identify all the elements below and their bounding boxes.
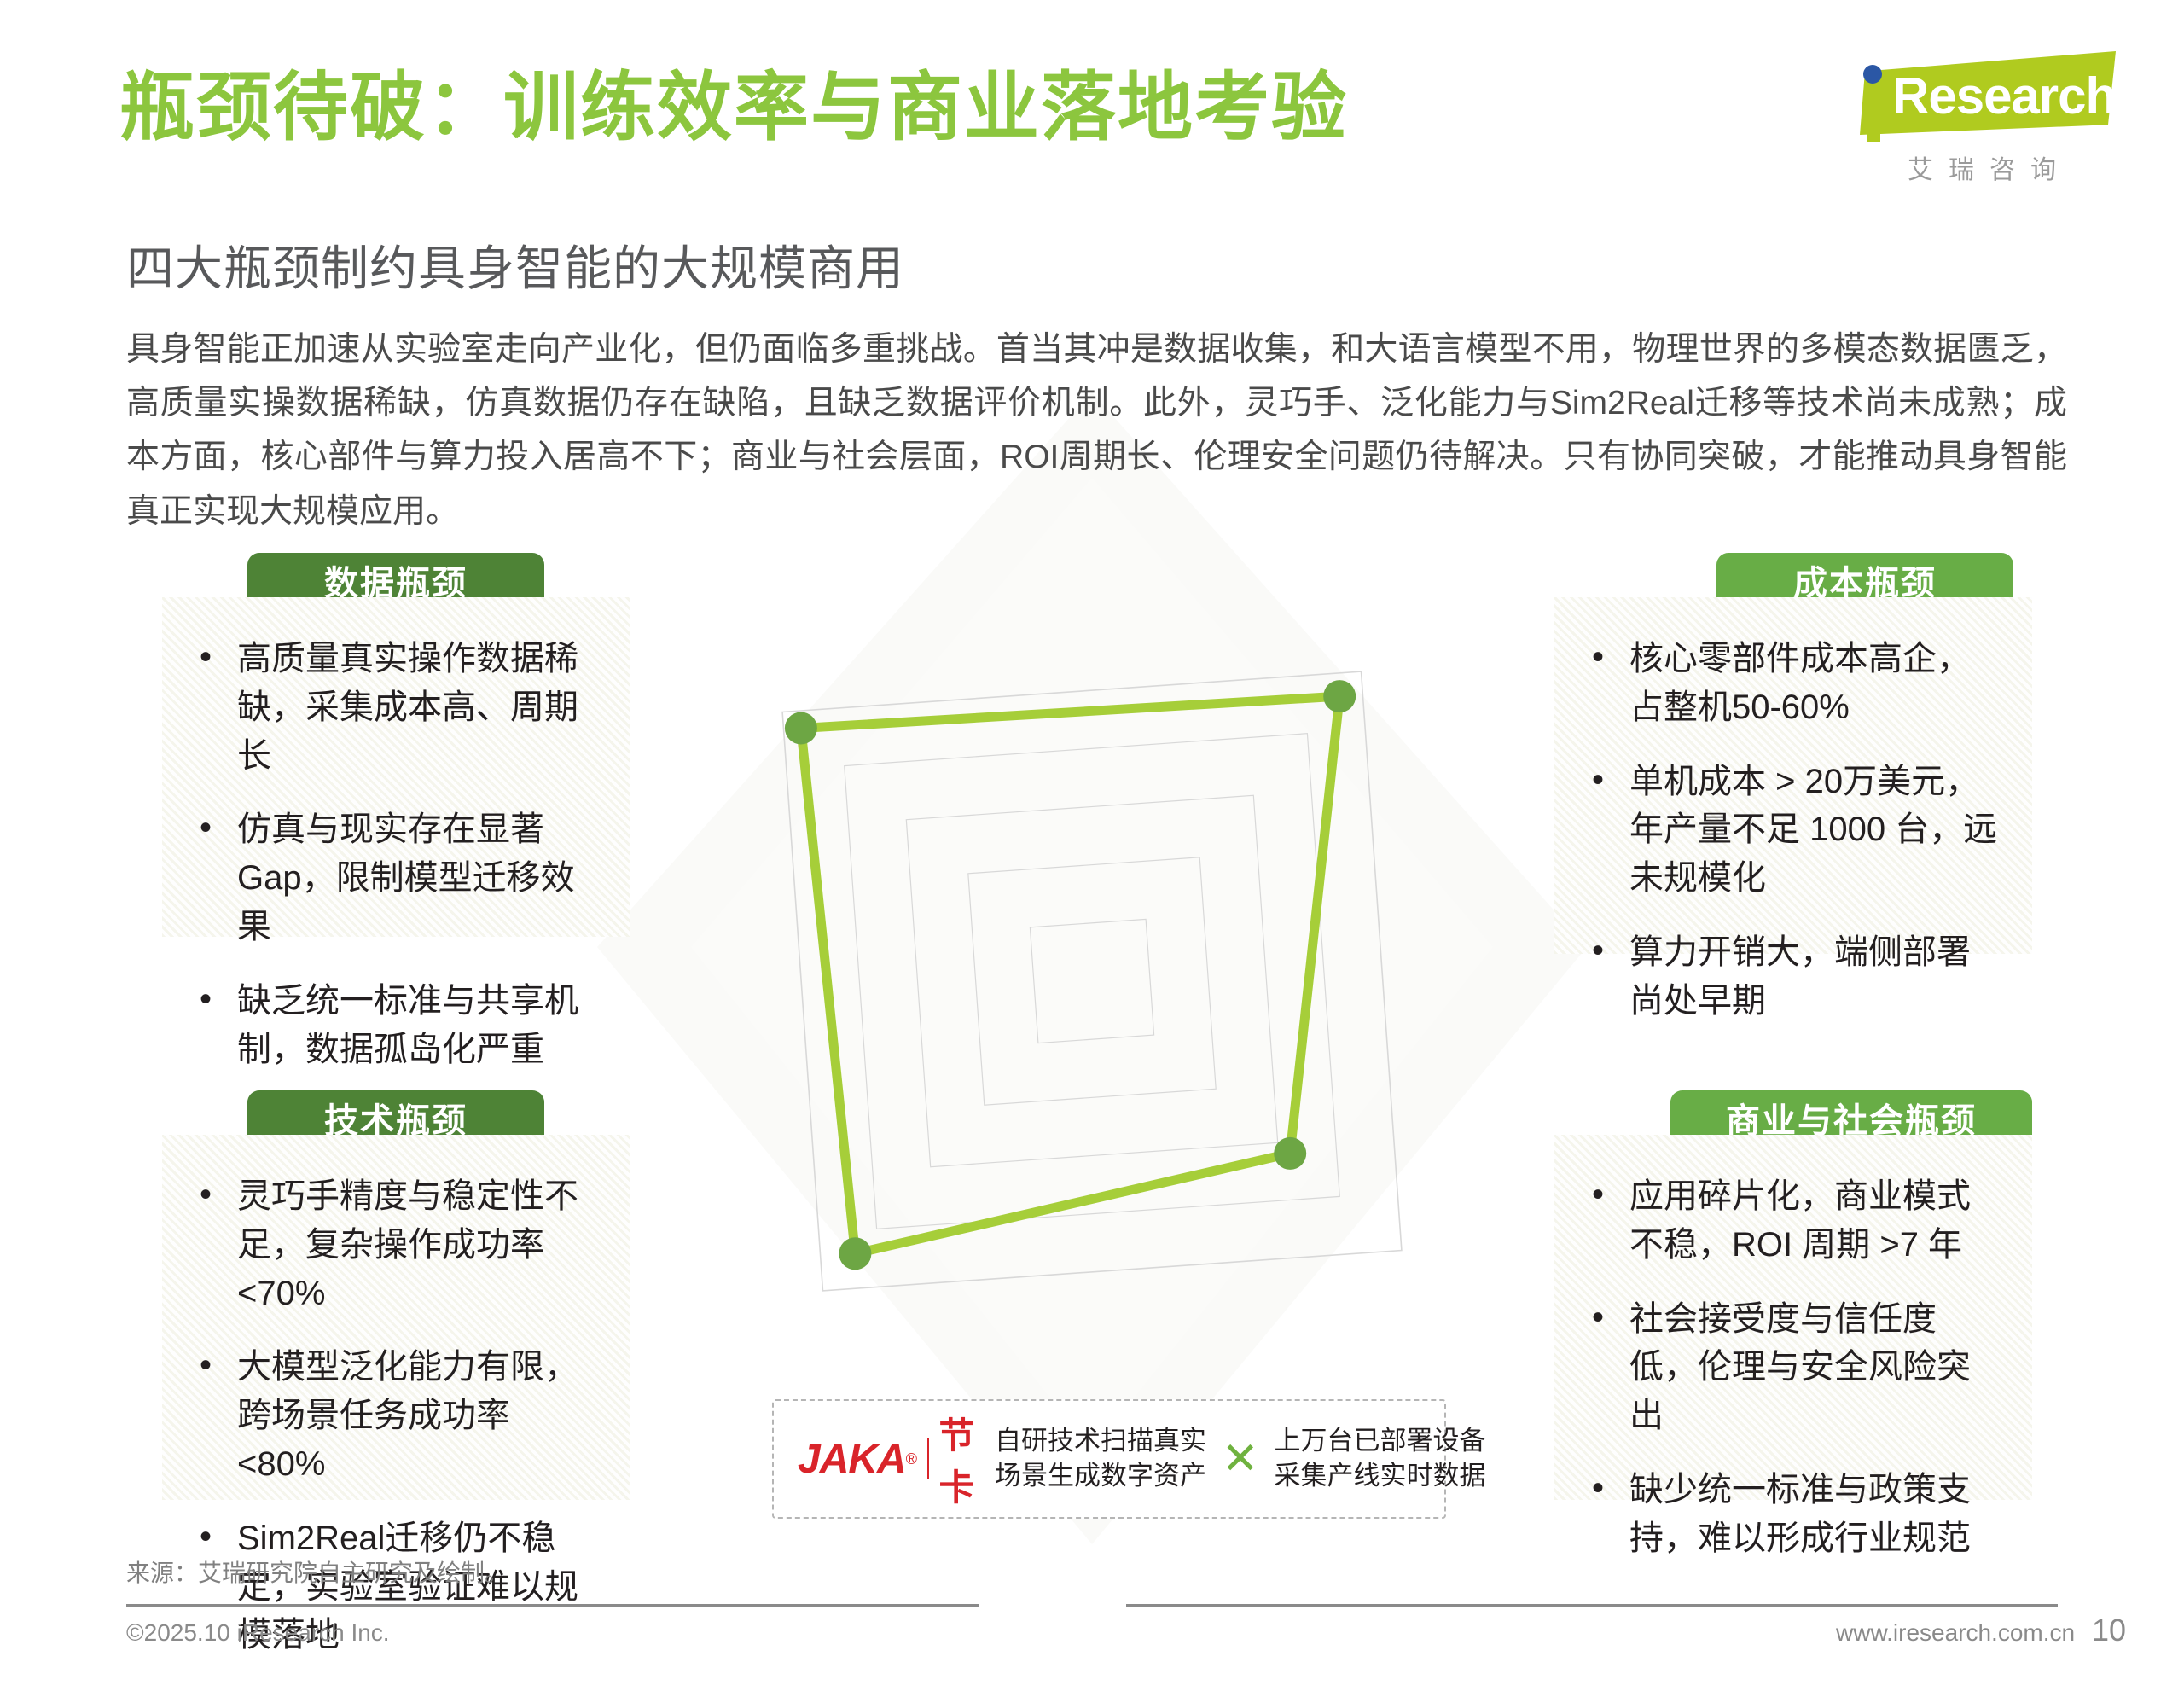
jaka-chinese-name: 节卡 xyxy=(939,1407,976,1511)
list-item: 灵巧手精度与稳定性不足，复杂操作成功率 <70% xyxy=(191,1172,595,1317)
jaka-partner-callout: JAKA ® 节卡 自研技术扫描真实 场景生成数字资产 ✕ 上万台已部署设备 采… xyxy=(772,1399,1446,1519)
intro-paragraph: 具身智能正加速从实验室走向产业化，但仍面临多重挑战。首当其冲是数据收集，和大语言… xyxy=(126,323,2067,538)
bullet-list-data: 高质量真实操作数据稀缺，采集成本高、周期长 仿真与现实存在显著 Gap，限制模型… xyxy=(162,597,630,1111)
radar-chart xyxy=(708,597,1476,1365)
list-item: 缺少统一标准与政策支持，难以形成行业规范 xyxy=(1583,1466,1998,1563)
list-item: 大模型泛化能力有限，跨场景任务成功率 <80% xyxy=(191,1343,595,1488)
jaka-right-text: 上万台已部署设备 采集产线实时数据 xyxy=(1275,1424,1486,1494)
radar-ring-3 xyxy=(906,795,1277,1166)
jaka-left-line1: 自研技术扫描真实 xyxy=(995,1424,1206,1459)
jaka-left-line2: 场景生成数字资产 xyxy=(995,1459,1206,1494)
footer-page-number: 10 xyxy=(2092,1613,2126,1648)
page-header: 瓶颈待破：训练效率与商业落地考验 Research 艾瑞咨询 xyxy=(0,0,2184,222)
bullet-list-biz: 应用碎片化，商业模式不稳，ROI 周期 >7 年 社会接受度与信任度低，伦理与安… xyxy=(1554,1135,2032,1601)
list-item: 高质量真实操作数据稀缺，采集成本高、周期长 xyxy=(191,635,595,780)
footer-divider-left xyxy=(126,1604,979,1607)
page-title: 瓶颈待破：训练效率与商业落地考验 xyxy=(119,67,1348,149)
radar-point-成本瓶颈 xyxy=(1323,680,1356,712)
list-item: 缺乏统一标准与共享机制，数据孤岛化严重 xyxy=(191,977,595,1074)
logo-i-dot-icon xyxy=(1863,65,1882,84)
iresearch-logo: Research 艾瑞咨询 xyxy=(1844,44,2126,198)
radar-ring-1 xyxy=(1030,919,1153,1043)
cross-multiply-icon: ✕ xyxy=(1222,1437,1259,1481)
jaka-right-line1: 上万台已部署设备 xyxy=(1275,1424,1486,1459)
quadrant-data-bottleneck: 数据瓶颈 高质量真实操作数据稀缺，采集成本高、周期长 仿真与现实存在显著 Gap… xyxy=(162,553,630,937)
source-note: 来源：艾瑞研究院自主研究及绘制。 xyxy=(126,1555,508,1589)
jaka-wordmark: JAKA xyxy=(798,1436,906,1483)
radar-data-points xyxy=(785,680,1356,1270)
logo-chinese-name: 艾瑞咨询 xyxy=(1862,148,2117,186)
list-item: 仿真与现实存在显著 Gap，限制模型迁移效果 xyxy=(191,805,595,950)
quadrant-tech-bottleneck: 技术瓶颈 灵巧手精度与稳定性不足，复杂操作成功率 <70% 大模型泛化能力有限，… xyxy=(162,1090,630,1500)
card-business-social-bottleneck: 应用碎片化，商业模式不稳，ROI 周期 >7 年 社会接受度与信任度低，伦理与安… xyxy=(1554,1135,2032,1500)
footer-copyright: ©2025.10 iResearch Inc. xyxy=(126,1619,390,1647)
list-item: 算力开销大，端侧部署尚处早期 xyxy=(1583,928,1998,1026)
jaka-divider xyxy=(927,1438,929,1479)
jaka-right-line2: 采集产线实时数据 xyxy=(1275,1459,1486,1494)
quadrant-cost-bottleneck: 成本瓶颈 核心零部件成本高企，占整机50-60% 单机成本 > 20万美元，年产… xyxy=(1554,553,2032,954)
jaka-left-text: 自研技术扫描真实 场景生成数字资产 xyxy=(995,1424,1206,1494)
quadrant-business-social-bottleneck: 商业与社会瓶颈 应用碎片化，商业模式不稳，ROI 周期 >7 年 社会接受度与信… xyxy=(1554,1090,2032,1500)
logo-wordmark: Research xyxy=(1892,67,2116,125)
card-cost-bottleneck: 核心零部件成本高企，占整机50-60% 单机成本 > 20万美元，年产量不足 1… xyxy=(1554,597,2032,954)
list-item: 核心零部件成本高企，占整机50-60% xyxy=(1583,635,1998,732)
list-item: 单机成本 > 20万美元，年产量不足 1000 台，远未规模化 xyxy=(1583,758,1998,903)
logo-i-stem-icon xyxy=(1867,89,1880,142)
footer-divider-right xyxy=(1126,1604,2058,1607)
card-tech-bottleneck: 灵巧手精度与稳定性不足，复杂操作成功率 <70% 大模型泛化能力有限，跨场景任务… xyxy=(162,1135,630,1500)
radar-point-技术瓶颈 xyxy=(839,1237,871,1270)
list-item: 社会接受度与信任度低，伦理与安全风险突出 xyxy=(1583,1295,1998,1440)
footer-website-url[interactable]: www.iresearch.com.cn xyxy=(1836,1619,2075,1647)
bullet-list-tech: 灵巧手精度与稳定性不足，复杂操作成功率 <70% 大模型泛化能力有限，跨场景任务… xyxy=(162,1135,630,1697)
card-data-bottleneck: 高质量真实操作数据稀缺，采集成本高、周期长 仿真与现实存在显著 Gap，限制模型… xyxy=(162,597,630,937)
bullet-list-cost: 核心零部件成本高企，占整机50-60% 单机成本 > 20万美元，年产量不足 1… xyxy=(1554,597,2032,1063)
jaka-registered-icon: ® xyxy=(906,1450,917,1468)
page-subtitle: 四大瓶颈制约具身智能的大规模商用 xyxy=(126,230,904,299)
list-item: 应用碎片化，商业模式不稳，ROI 周期 >7 年 xyxy=(1583,1172,1998,1270)
jaka-logo: JAKA ® 节卡 xyxy=(798,1407,976,1511)
radar-series-polygon xyxy=(801,696,1339,1253)
radar-ring-2 xyxy=(968,857,1216,1105)
radar-point-数据瓶颈 xyxy=(785,712,817,745)
radar-point-商业与社会瓶颈 xyxy=(1274,1137,1306,1170)
